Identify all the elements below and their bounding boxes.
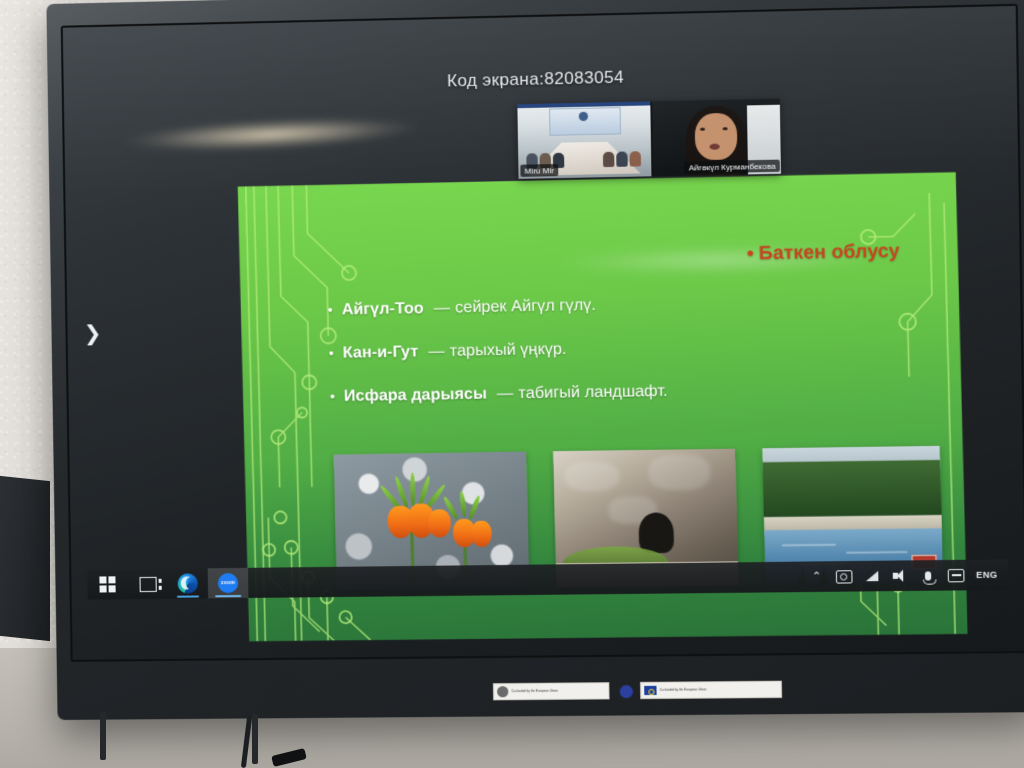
- list-item: • Айгүл-Тоо — сейрек Айгүл гүлү.: [327, 291, 907, 319]
- slide-title: •Баткен облусу: [239, 240, 900, 275]
- task-view-icon: [139, 576, 156, 591]
- bullet-marker: •: [327, 302, 332, 316]
- chevron-up-glyph: ⌃: [812, 571, 822, 582]
- slide-title-bullet: •: [747, 243, 754, 264]
- wall-mount-right: [252, 714, 258, 764]
- slide-bullet-list: • Айгүл-Тоо — сейрек Айгүл гүлү. • Кан-и…: [327, 291, 910, 431]
- network-icon[interactable]: [864, 568, 881, 584]
- side-panel-toggle-chevron-right-icon[interactable]: ❯: [81, 319, 103, 349]
- system-tray: ⌃ ENG: [808, 566, 1008, 584]
- zoom-icon: zoom: [218, 573, 238, 593]
- display-screen[interactable]: ❯ Код экрана:82083054 Miru Mir: [63, 6, 1024, 660]
- video-tile-room[interactable]: Miru Mir: [517, 101, 651, 179]
- bullet-description: табигый ландшафт.: [518, 383, 668, 404]
- rock-highlight: [648, 454, 711, 490]
- camera-icon[interactable]: [836, 568, 853, 584]
- bullet-marker: •: [330, 389, 335, 403]
- flower-bloom: [471, 521, 492, 547]
- slide-title-text: Баткен облусу: [759, 240, 900, 264]
- taskbar-app-edge[interactable]: [167, 568, 208, 599]
- bullet-description: тарыхый үңкүр.: [450, 341, 567, 361]
- participant-name-label: Айгөкүл Курманбекова: [685, 160, 780, 174]
- keyboard-icon[interactable]: [948, 567, 965, 583]
- list-item: • Исфара дарыясы — табигый ландшафт.: [330, 379, 910, 406]
- flower-bloom: [428, 509, 451, 538]
- bezel-sticker-right: Co-funded by the European Union: [640, 681, 782, 699]
- cave-entrance: [638, 512, 674, 553]
- chevron-up-icon[interactable]: ⌃: [808, 568, 825, 584]
- wall-mount-left: [100, 712, 106, 760]
- seal-icon: [497, 686, 508, 697]
- bullet-dash: —: [428, 343, 445, 361]
- zoom-video-strip[interactable]: Miru Mir Айгөкүл Курманбекова: [517, 99, 781, 179]
- eu-badge-icon: [620, 685, 634, 698]
- sticker-text: Co-funded by the European Union: [660, 687, 781, 692]
- bullet-term: Кан-и-Гут: [343, 343, 419, 362]
- sticker-text: Co-funded by the European Union: [511, 689, 608, 694]
- screen-code-label: Код экрана:82083054: [64, 59, 1017, 100]
- bullet-dash: —: [434, 299, 451, 317]
- interactive-display[interactable]: ❯ Код экрана:82083054 Miru Mir: [46, 0, 1024, 720]
- side-cabinet: [0, 475, 50, 641]
- list-item: • Кан-и-Гут — тарыхый үңкүр.: [329, 335, 909, 363]
- video-tile-presenter[interactable]: Айгөкүл Курманбекова: [652, 99, 781, 177]
- bullet-dash: —: [497, 385, 514, 403]
- bullet-marker: •: [329, 346, 334, 360]
- taskbar-app-zoom[interactable]: zoom: [208, 568, 249, 599]
- language-indicator[interactable]: ENG: [976, 570, 998, 580]
- bezel-sticker-left: Co-funded by the European Union: [493, 682, 610, 700]
- presenter-eye-left: [700, 127, 705, 130]
- windows-start-button[interactable]: [87, 569, 128, 599]
- taskbar-app-area: zoom: [87, 568, 248, 600]
- bullet-term: Исфара дарыясы: [344, 386, 487, 406]
- participant-name-label: Miru Mir: [520, 164, 558, 177]
- task-view-button[interactable]: [127, 569, 168, 599]
- presenter-eye-right: [723, 127, 728, 130]
- bullet-term: Айгүл-Тоо: [342, 300, 424, 320]
- presenter-face: [694, 113, 737, 160]
- windows-start-icon: [99, 576, 115, 592]
- volume-icon[interactable]: [892, 568, 909, 584]
- rock-highlight: [564, 461, 619, 492]
- microphone-icon[interactable]: [920, 567, 937, 583]
- screen-glare-streak: [124, 112, 418, 156]
- eu-flag-icon: [644, 686, 656, 695]
- microsoft-edge-icon: [178, 573, 198, 593]
- screenshot-stage: ❯ Код экрана:82083054 Miru Mir: [0, 0, 1024, 768]
- presenter-mouth: [709, 143, 719, 149]
- bullet-description: сейрек Айгүл гүлү.: [455, 297, 596, 318]
